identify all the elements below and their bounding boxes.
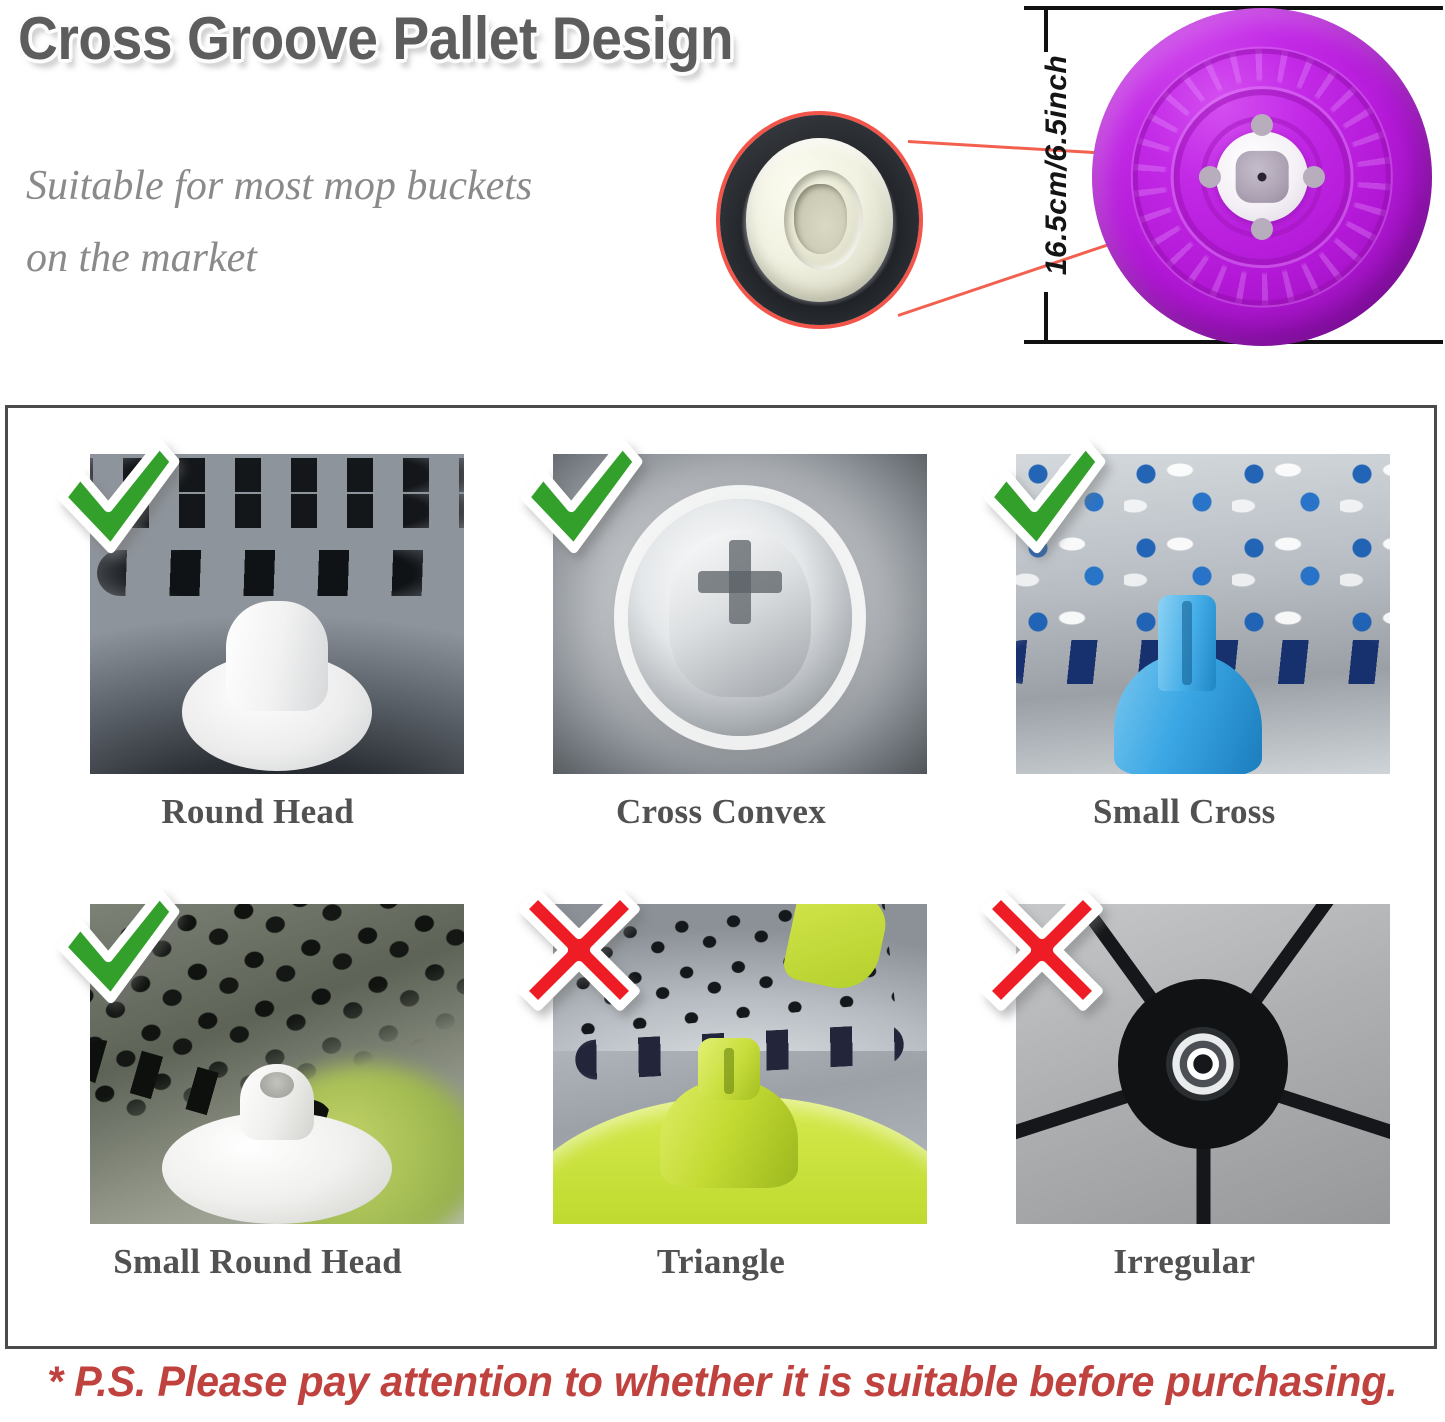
compatibility-cell-irregular: Irregular (953, 886, 1416, 1336)
spindle-nipple (240, 1064, 314, 1140)
thumb-wrap (978, 886, 1390, 1224)
triangle-spindle (654, 1038, 804, 1188)
fan-center-socket (1166, 1027, 1240, 1101)
notch-vertical (729, 540, 751, 624)
cross-icon (515, 886, 643, 1014)
thumb-wrap (52, 436, 464, 774)
check-icon (52, 436, 180, 564)
check-icon (515, 436, 643, 564)
pallet-hub-lobe-west (1199, 166, 1221, 188)
small-round-head-spindle (162, 1064, 392, 1224)
cell-label: Triangle (657, 1242, 785, 1282)
compatibility-cell-cross-convex: Cross Convex (489, 436, 952, 886)
cell-label: Small Cross (1093, 792, 1276, 832)
pallet-hub-lobe-east (1303, 166, 1325, 188)
subtitle: Suitable for most mop buckets on the mar… (26, 150, 686, 294)
cross-groove-notch (697, 539, 783, 625)
cross-icon (978, 886, 1106, 1014)
compatibility-cell-triangle: Triangle (489, 886, 952, 1336)
pallet-hub-lobe-north (1251, 114, 1273, 136)
cell-label: Irregular (1113, 1242, 1255, 1282)
small-cross-spindle (1104, 595, 1272, 774)
thumb-wrap (978, 436, 1390, 774)
cell-label: Cross Convex (616, 792, 826, 832)
header-section: Cross Groove Pallet Design Suitable for … (0, 0, 1445, 380)
subtitle-line-2: on the market (26, 222, 686, 294)
dimension-tick-bottom (1044, 292, 1048, 344)
purchase-note: * P.S. Please pay attention to whether i… (47, 1358, 1397, 1407)
cell-label: Round Head (161, 792, 354, 832)
spindle-triangle-tip (698, 1038, 760, 1100)
thumb-wrap (515, 436, 927, 774)
footer-section: * P.S. Please pay attention to whether i… (0, 1358, 1445, 1407)
check-icon (52, 886, 180, 1014)
dimension-label: 16.5cm/6.5inch (1040, 34, 1074, 296)
round-head-spindle (182, 601, 372, 771)
spindle-cross-post (1158, 595, 1216, 691)
compatibility-cell-round-head: Round Head (26, 436, 489, 886)
subtitle-line-1: Suitable for most mop buckets (26, 150, 686, 222)
pallet-hub-lobe-south (1251, 218, 1273, 240)
socket-cross-groove (794, 184, 848, 253)
page-title: Cross Groove Pallet Design (18, 4, 733, 73)
compatibility-grid: Round Head C (8, 408, 1434, 1346)
purple-pallet-photo (1092, 8, 1432, 346)
check-icon (978, 436, 1106, 564)
thumb-wrap (52, 886, 464, 1224)
thumb-wrap (515, 886, 927, 1224)
spindle-stem (226, 601, 328, 711)
cell-label: Small Round Head (113, 1242, 402, 1282)
compatibility-cell-small-round-head: Small Round Head (26, 886, 489, 1336)
compatibility-panel: Round Head C (5, 405, 1437, 1349)
compatibility-cell-small-cross: Small Cross (953, 436, 1416, 886)
pallet-hub-center-dot (1258, 173, 1267, 182)
socket-detail-callout-photo (716, 111, 923, 329)
